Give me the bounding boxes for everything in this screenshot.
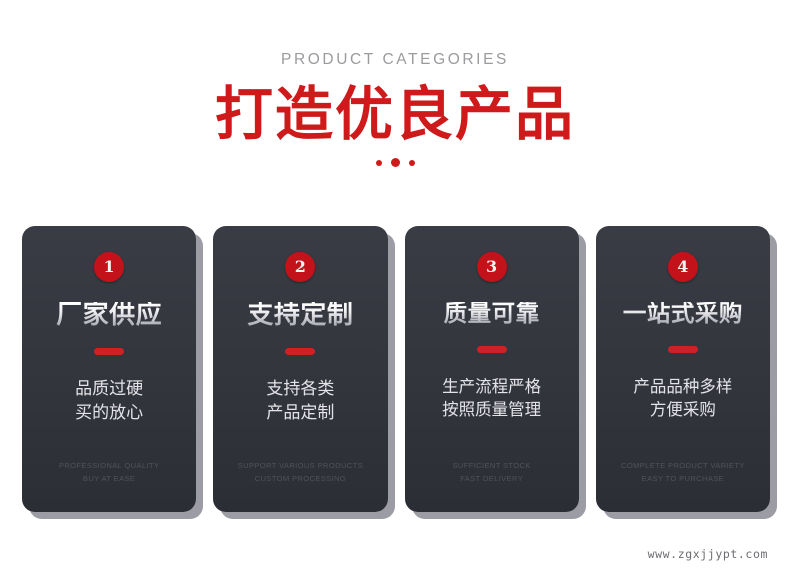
card-divider <box>94 348 124 355</box>
page-title: 打造优良产品 <box>0 84 790 145</box>
card-divider <box>668 346 698 353</box>
card-description-line-1: 支持各类 <box>266 377 334 401</box>
card-english-line-1: PROFESSIONAL QUALITY <box>22 459 196 473</box>
card-description-line-1: 品质过硬 <box>75 377 143 401</box>
card-english-line-2: BUY AT EASE <box>22 472 196 486</box>
feature-card-3[interactable]: 3 质量可靠 生产流程严格 按照质量管理 SUFFICIENT STOCK FA… <box>405 226 579 512</box>
card-english-line-1: SUFFICIENT STOCK <box>405 459 579 473</box>
card-english-line-1: SUPPORT VARIOUS PRODUCTS <box>213 459 387 473</box>
card-title: 一站式采购 <box>623 302 743 326</box>
card-english-caption: SUPPORT VARIOUS PRODUCTS CUSTOM PROCESSI… <box>213 459 387 486</box>
card-divider <box>477 346 507 353</box>
card-description-line-2: 按照质量管理 <box>442 398 541 421</box>
card-english-caption: PROFESSIONAL QUALITY BUY AT EASE <box>22 459 196 486</box>
feature-card-1[interactable]: 1 厂家供应 品质过硬 买的放心 PROFESSIONAL QUALITY BU… <box>22 226 196 512</box>
card-number-badge: 3 <box>477 252 507 282</box>
page-eyebrow: PRODUCT CATEGORIES <box>0 52 790 68</box>
card-description: 品质过硬 买的放心 <box>75 377 143 425</box>
site-watermark: www.zgxjjypt.com <box>648 547 768 561</box>
dot-left-icon <box>376 160 382 166</box>
card-description: 支持各类 产品定制 <box>266 377 334 425</box>
card-description: 生产流程严格 按照质量管理 <box>442 375 541 422</box>
feature-card-2[interactable]: 2 支持定制 支持各类 产品定制 SUPPORT VARIOUS PRODUCT… <box>213 226 387 512</box>
feature-card-list: 1 厂家供应 品质过硬 买的放心 PROFESSIONAL QUALITY BU… <box>22 226 770 512</box>
card-english-line-2: EASY TO PURCHASE <box>596 472 770 486</box>
card-title: 厂家供应 <box>56 302 162 328</box>
page-header: PRODUCT CATEGORIES 打造优良产品 <box>0 0 790 169</box>
card-description-line-1: 生产流程严格 <box>442 375 541 398</box>
card-number-badge: 4 <box>668 252 698 282</box>
card-description-line-2: 买的放心 <box>75 401 143 425</box>
dot-right-icon <box>409 160 415 166</box>
three-dots-decoration-icon <box>0 157 790 169</box>
card-number-badge: 1 <box>94 252 124 282</box>
card-description-line-2: 方便采购 <box>633 398 732 421</box>
card-description-line-1: 产品品种多样 <box>633 375 732 398</box>
card-english-line-2: CUSTOM PROCESSING <box>213 472 387 486</box>
card-title: 质量可靠 <box>444 302 540 326</box>
card-description: 产品品种多样 方便采购 <box>633 375 732 422</box>
card-english-line-2: FAST DELIVERY <box>405 472 579 486</box>
card-title: 支持定制 <box>247 302 353 328</box>
feature-card-4[interactable]: 4 一站式采购 产品品种多样 方便采购 COMPLETE PRODUCT VAR… <box>596 226 770 512</box>
dot-center-icon <box>391 158 400 167</box>
card-english-line-1: COMPLETE PRODUCT VARIETY <box>596 459 770 473</box>
card-english-caption: COMPLETE PRODUCT VARIETY EASY TO PURCHAS… <box>596 459 770 486</box>
card-divider <box>285 348 315 355</box>
card-description-line-2: 产品定制 <box>266 401 334 425</box>
card-number-badge: 2 <box>285 252 315 282</box>
card-english-caption: SUFFICIENT STOCK FAST DELIVERY <box>405 459 579 486</box>
